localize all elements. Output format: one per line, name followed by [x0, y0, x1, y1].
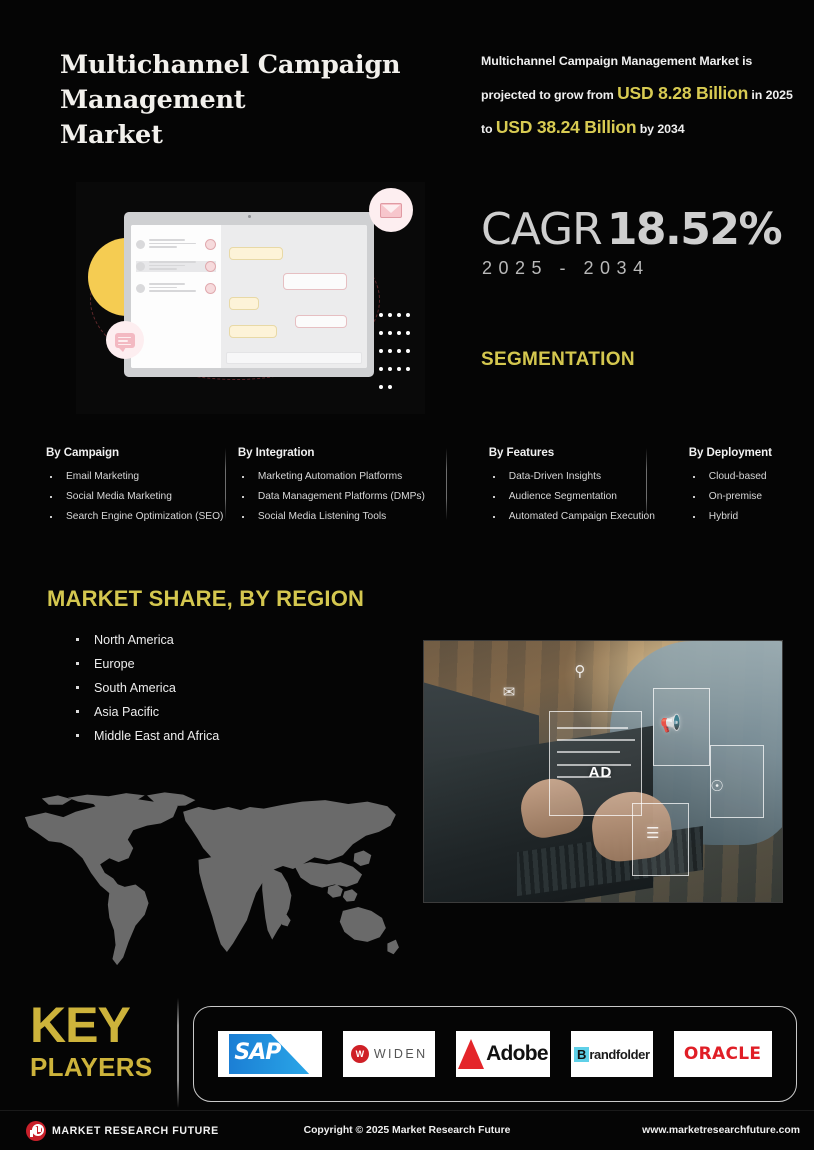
key-players-heading-line-2: PLAYERS [30, 1050, 170, 1084]
megaphone-icon: 📢 [660, 714, 681, 734]
ad-overlay-label: AD [589, 764, 613, 781]
status-badge [205, 261, 216, 272]
list-item [136, 239, 216, 250]
footer-brand: MARKET RESEARCH FUTURE [26, 1121, 219, 1141]
segmentation-item: Marketing Automation Platforms [238, 467, 445, 487]
segmentation-column-title: By Integration [238, 446, 445, 459]
segmentation-column-title: By Deployment [689, 446, 788, 459]
segmentation-column-title: By Campaign [46, 446, 224, 459]
list-item [136, 261, 216, 272]
key-players-divider [177, 998, 179, 1108]
globe-icon: ☉ [710, 777, 723, 795]
segmentation-item: Social Media Marketing [46, 487, 224, 507]
market-headline: Multichannel Campaign Management Market … [481, 45, 801, 145]
world-map [18, 790, 402, 976]
holographic-panel [632, 803, 689, 876]
segmentation-item: Data Management Platforms (DMPs) [238, 487, 445, 507]
widen-logo: W WIDEN [343, 1031, 435, 1077]
avatar [136, 262, 145, 271]
message-bubble [283, 273, 347, 290]
market-share-heading: MARKET SHARE, BY REGION [47, 586, 364, 612]
oracle-logo-text: ORACLE [684, 1044, 761, 1064]
segmentation-item: Search Engine Optimization (SEO) [46, 507, 224, 527]
tablet-screen [131, 225, 367, 368]
adobe-logo: Adobe [456, 1031, 550, 1077]
segmentation-item: Audience Segmentation [489, 487, 645, 507]
brandfolder-logo: Brandfolder [571, 1031, 653, 1077]
footer-website-url[interactable]: www.marketresearchfuture.com [642, 1125, 800, 1136]
brandfolder-logo-text: randfolder [589, 1047, 649, 1062]
envelope-icon [380, 203, 402, 218]
conversation-list [131, 225, 221, 368]
region-item: Middle East and Africa [72, 724, 219, 748]
market-research-future-logo-icon [26, 1121, 46, 1141]
widen-logo-text: WIDEN [374, 1047, 428, 1061]
segmentation-column-campaign: By Campaign Email Marketing Social Media… [46, 446, 234, 527]
headline-part-3: by 2034 [636, 122, 684, 136]
sap-logo-mark: SAP [229, 1034, 311, 1074]
tablet-device [124, 212, 374, 377]
status-badge [205, 239, 216, 250]
status-badge [205, 283, 216, 294]
list-item [136, 283, 216, 294]
list-item-text [149, 261, 201, 272]
segmentation-item: On-premise [689, 487, 788, 507]
segmentation-item: Data-Driven Insights [489, 467, 645, 487]
message-thread [221, 225, 367, 368]
page-footer: MARKET RESEARCH FUTURE Copyright © 2025 … [0, 1110, 814, 1150]
cagr-display: CAGR 18.52% [481, 204, 781, 255]
dot-grid-decoration [377, 306, 421, 396]
cagr-value: 18.52% [607, 204, 781, 255]
region-list: North America Europe South America Asia … [72, 628, 219, 748]
page-title-line-1: Multichannel Campaign [60, 48, 460, 83]
page-title: Multichannel Campaign Management Market [60, 48, 460, 153]
segmentation-item: Hybrid [689, 507, 788, 527]
hero-illustration [76, 182, 425, 414]
sap-logo-text: SAP [234, 1040, 280, 1065]
headline-value-start: USD 8.28 Billion [617, 83, 748, 103]
message-bubble [229, 247, 283, 260]
segmentation-column-title: By Features [489, 446, 645, 459]
region-item: Asia Pacific [72, 700, 219, 724]
segmentation-column-deployment: By Deployment Cloud-based On-premise Hyb… [655, 446, 798, 527]
avatar [136, 240, 145, 249]
widen-logo-mark: W [351, 1045, 369, 1063]
key-players-heading-line-1: KEY [30, 1000, 170, 1050]
search-icon: ⚲ [574, 662, 585, 680]
cagr-period: 2025 - 2034 [482, 258, 650, 279]
segmentation-item: Social Media Listening Tools [238, 507, 445, 527]
world-map-svg [18, 790, 402, 976]
segmentation-columns: By Campaign Email Marketing Social Media… [46, 446, 798, 527]
footer-copyright: Copyright © 2025 Market Research Future [304, 1125, 511, 1136]
segmentation-item: Cloud-based [689, 467, 788, 487]
chat-bubble-icon [115, 333, 135, 348]
bar-chart-icon: ☰ [646, 824, 659, 842]
envelope-icon: ✉ [503, 683, 516, 701]
segmentation-item: Email Marketing [46, 467, 224, 487]
footer-brand-name: MARKET RESEARCH FUTURE [52, 1125, 219, 1137]
cagr-label: CAGR [481, 204, 602, 255]
page-title-line-3: Market [60, 118, 460, 153]
message-bubble [229, 297, 259, 310]
page-title-line-2: Management [60, 83, 460, 118]
envelope-badge [369, 188, 413, 232]
segmentation-heading: SEGMENTATION [481, 349, 635, 371]
segmentation-item: Automated Campaign Execution [489, 507, 645, 527]
region-item: North America [72, 628, 219, 652]
key-players-heading: KEY PLAYERS [30, 1000, 170, 1084]
adobe-logo-mark [458, 1039, 484, 1069]
segmentation-column-features: By Features Data-Driven Insights Audienc… [455, 446, 655, 527]
camera-dot-icon [248, 215, 251, 218]
key-players-section: KEY PLAYERS SAP W WIDEN Adobe Brandfolde… [0, 998, 814, 1110]
advertising-photo: AD ✉ ⚲ 📢 ☉ ☰ [423, 640, 783, 903]
message-bubble [295, 315, 347, 328]
oracle-logo: ORACLE [674, 1031, 772, 1077]
brandfolder-logo-mark: B [574, 1047, 589, 1062]
region-item: Europe [72, 652, 219, 676]
segmentation-column-integration: By Integration Marketing Automation Plat… [234, 446, 455, 527]
avatar [136, 284, 145, 293]
message-input[interactable] [226, 352, 362, 364]
chat-badge [106, 321, 144, 359]
headline-value-end: USD 38.24 Billion [496, 117, 637, 137]
infographic-page: Multichannel Campaign Management Market … [0, 0, 814, 1150]
sap-logo: SAP [218, 1031, 322, 1077]
message-bubble [229, 325, 277, 338]
list-item-text [149, 283, 201, 294]
region-item: South America [72, 676, 219, 700]
list-item-text [149, 239, 201, 250]
key-players-logo-box: SAP W WIDEN Adobe Brandfolder ORACLE [193, 1006, 797, 1102]
adobe-logo-text: Adobe [486, 1042, 548, 1066]
